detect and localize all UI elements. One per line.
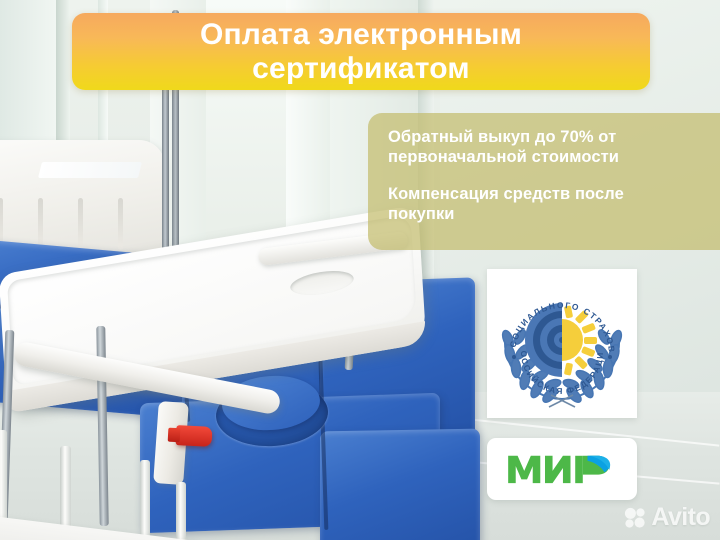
headboard-slot	[118, 198, 123, 250]
mir-logo-icon	[506, 452, 618, 486]
benefit-item-1-line-1: Обратный выкуп до 70% от	[388, 127, 706, 147]
headboard-highlight	[38, 162, 142, 178]
avito-dots-icon	[624, 507, 646, 529]
headboard-slot	[78, 198, 83, 250]
headboard-slot	[38, 198, 43, 250]
promo-banner-line-1: Оплата электронным	[200, 18, 522, 52]
benefit-item-2-line-2: покупки	[388, 204, 706, 224]
benefit-item-2-line-1: Компенсация средств после	[388, 184, 706, 204]
benefits-panel: Обратный выкуп до 70% от первоначальной …	[368, 113, 720, 250]
promo-banner-line-2: сертификатом	[252, 52, 470, 86]
fss-emblem-icon: ФОНД СОЦИАЛЬНОГО СТРАХОВАНИЯ РОССИЙСКАЯ …	[491, 275, 633, 413]
mir-logo-card	[487, 438, 637, 500]
benefit-item-1-line-2: первоначальной стоимости	[388, 147, 706, 167]
bed-frame-leg	[140, 460, 150, 540]
listing-image: Оплата электронным сертификатом Обратный…	[0, 0, 720, 540]
avito-watermark-text: Avito	[651, 503, 710, 532]
benefit-item-2: Компенсация средств после покупки	[388, 184, 706, 225]
bed-frame-leg	[176, 482, 186, 540]
promo-banner: Оплата электронным сертификатом	[72, 13, 650, 90]
avito-watermark: Avito	[624, 503, 710, 532]
rail-release-lever	[176, 425, 213, 447]
mattress-section	[320, 429, 480, 540]
benefits-spacer	[388, 168, 706, 184]
fss-emblem-card: ФОНД СОЦИАЛЬНОГО СТРАХОВАНИЯ РОССИЙСКАЯ …	[487, 269, 637, 418]
benefit-item-1: Обратный выкуп до 70% от первоначальной …	[388, 127, 706, 168]
